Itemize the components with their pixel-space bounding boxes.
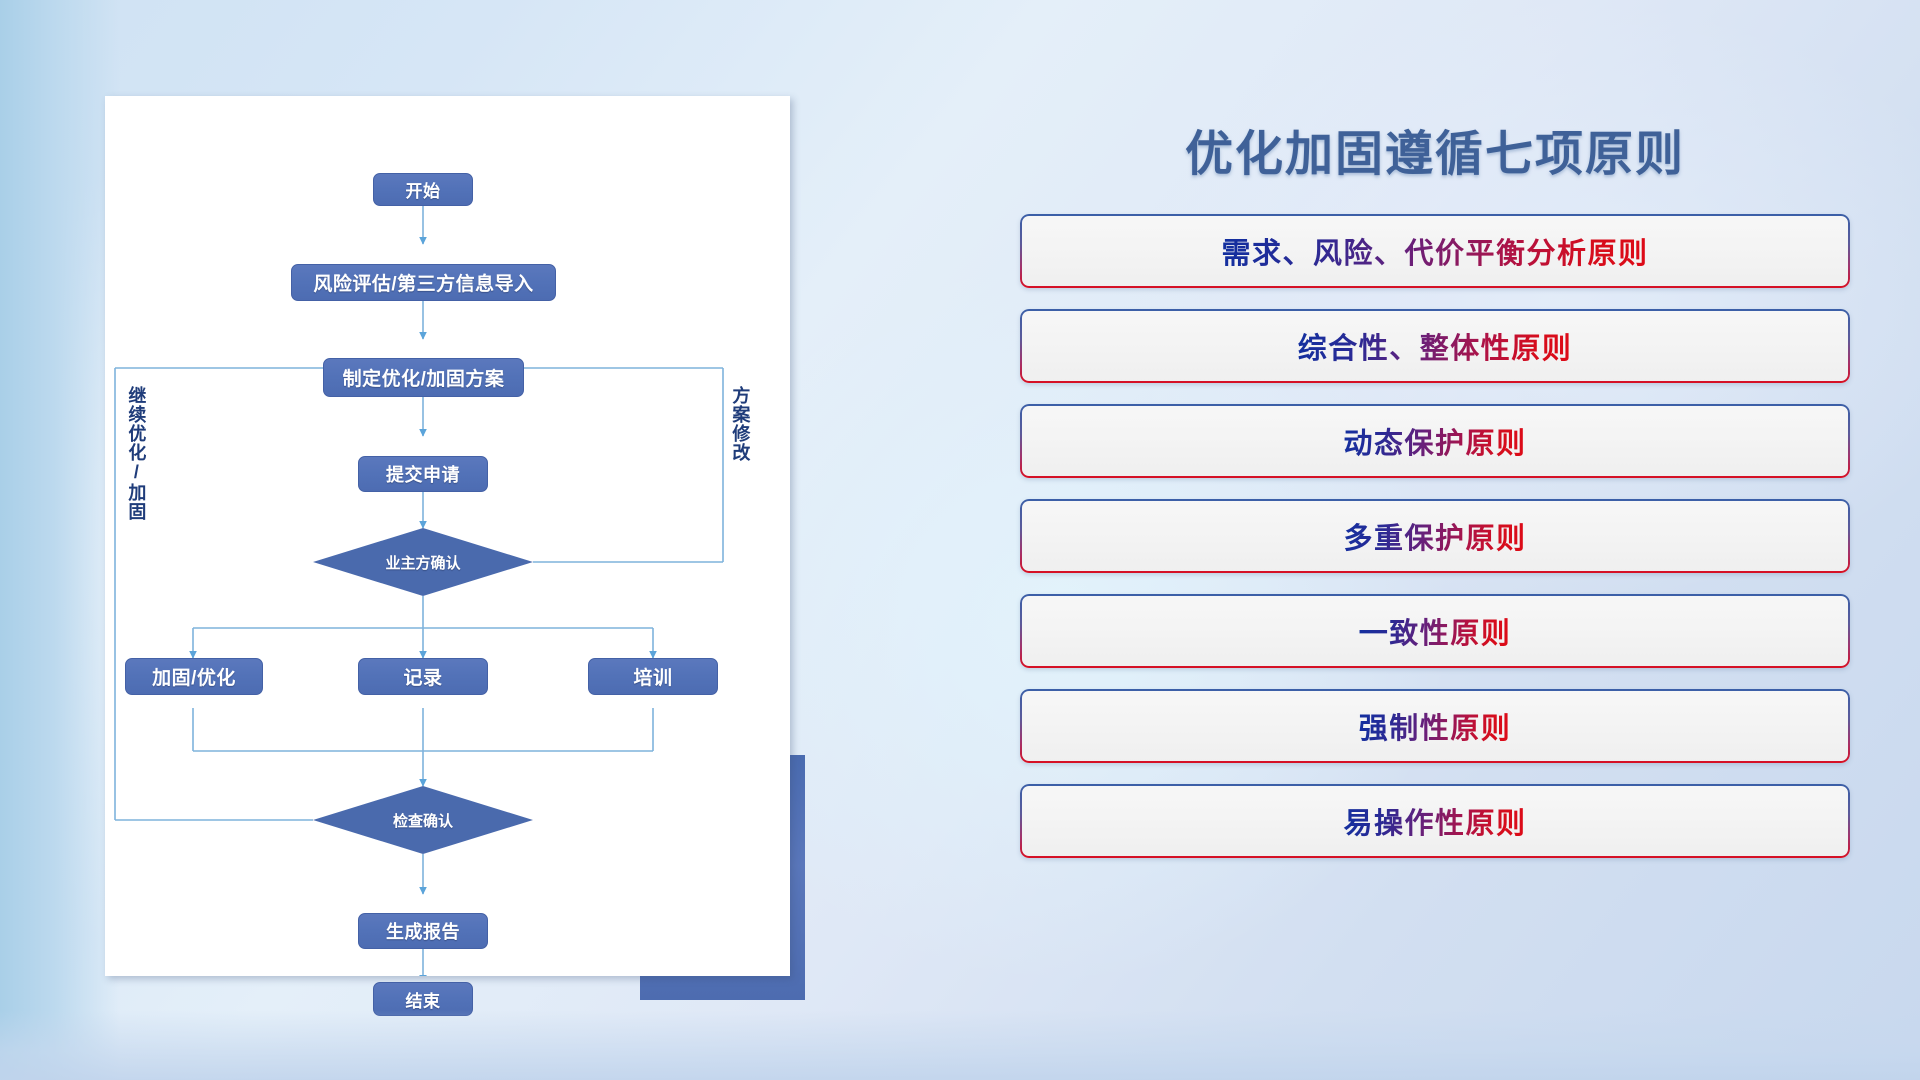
flow-edge-label-plan-revise: 方案修改 xyxy=(731,386,749,462)
principles-list: 需求、风险、代价平衡分析原则 综合性、整体性原则 动态保护原则 多重保护原则 一… xyxy=(1020,214,1850,879)
principle-label: 需求、风险、代价平衡分析原则 xyxy=(1221,230,1648,272)
flow-node-plan-label: 制定优化/加固方案 xyxy=(343,364,505,391)
principle-label: 强制性原则 xyxy=(1359,705,1512,747)
principles-panel: 优化加固遵循七项原则 需求、风险、代价平衡分析原则 综合性、整体性原则 动态保护… xyxy=(1020,96,1850,996)
principle-item[interactable]: 多重保护原则 xyxy=(1020,499,1850,573)
principle-label: 易操作性原则 xyxy=(1343,800,1526,842)
flow-node-submit[interactable]: 提交申请 xyxy=(358,456,488,492)
principle-item[interactable]: 一致性原则 xyxy=(1020,594,1850,668)
flow-node-submit-label: 提交申请 xyxy=(386,461,460,487)
flow-node-risk[interactable]: 风险评估/第三方信息导入 xyxy=(291,264,556,301)
panel-title: 优化加固遵循七项原则 xyxy=(1020,114,1850,184)
flow-node-record[interactable]: 记录 xyxy=(358,658,488,695)
principle-item[interactable]: 需求、风险、代价平衡分析原则 xyxy=(1020,214,1850,288)
flow-node-reinforce-label: 加固/优化 xyxy=(152,663,236,690)
principle-item[interactable]: 易操作性原则 xyxy=(1020,784,1850,858)
principle-item[interactable]: 动态保护原则 xyxy=(1020,404,1850,478)
flow-decision-owner-confirm-label: 业主方确认 xyxy=(385,552,460,573)
flow-node-end[interactable]: 结束 xyxy=(373,982,473,1016)
flow-node-record-label: 记录 xyxy=(403,663,442,690)
slide-canvas: 开始 风险评估/第三方信息导入 制定优化/加固方案 提交申请 业主方确认 加固/… xyxy=(0,0,1920,1080)
flow-edge-label-continue-optimize: 继续优化/加固 xyxy=(127,386,145,521)
flowchart-card: 开始 风险评估/第三方信息导入 制定优化/加固方案 提交申请 业主方确认 加固/… xyxy=(105,96,790,976)
flow-node-training-label: 培训 xyxy=(633,663,672,690)
principle-label: 动态保护原则 xyxy=(1343,420,1526,462)
principle-item[interactable]: 强制性原则 xyxy=(1020,689,1850,763)
principle-label: 多重保护原则 xyxy=(1343,515,1526,557)
flow-node-end-label: 结束 xyxy=(406,987,441,1012)
flowchart: 开始 风险评估/第三方信息导入 制定优化/加固方案 提交申请 业主方确认 加固/… xyxy=(105,96,790,976)
flow-node-report[interactable]: 生成报告 xyxy=(358,913,488,949)
principle-label: 一致性原则 xyxy=(1359,610,1512,652)
flow-node-start[interactable]: 开始 xyxy=(373,173,473,206)
flow-node-start-label: 开始 xyxy=(406,177,441,202)
principle-item[interactable]: 综合性、整体性原则 xyxy=(1020,309,1850,383)
flow-node-plan[interactable]: 制定优化/加固方案 xyxy=(323,358,524,397)
flow-node-reinforce[interactable]: 加固/优化 xyxy=(125,658,263,695)
flow-decision-check-confirm-label: 检查确认 xyxy=(393,810,453,831)
flow-node-risk-label: 风险评估/第三方信息导入 xyxy=(313,269,533,296)
flow-node-report-label: 生成报告 xyxy=(386,918,460,944)
flow-node-training[interactable]: 培训 xyxy=(588,658,718,695)
principle-label: 综合性、整体性原则 xyxy=(1298,325,1573,367)
